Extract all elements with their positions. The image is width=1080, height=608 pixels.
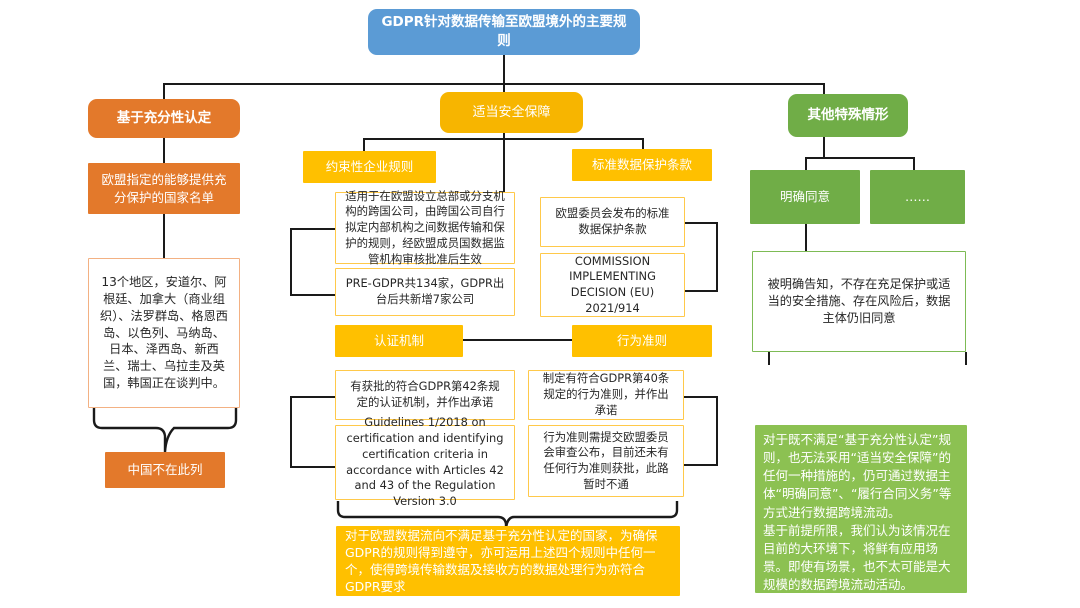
- safeguards-group-certification-title[interactable]: 认证机制: [335, 325, 463, 357]
- safeguards-certification-item-1[interactable]: 有获批的符合GDPR第42条规定的认证机制，并作出承诺: [335, 370, 515, 420]
- safeguards-certification-item-1-text: 有获批的符合GDPR第42条规定的认证机制，并作出承诺: [345, 379, 505, 410]
- safeguards-certification-item-2-text: Guidelines 1/2018 on certification and i…: [345, 415, 505, 509]
- adequacy-conclusion-label: 中国不在此列: [114, 461, 216, 478]
- safeguards-bcr-item-2-text: PRE-GDPR共134家，GDPR出台后共新增7家公司: [345, 276, 505, 307]
- other-detail[interactable]: 被明确告知，不存在充足保护或适当的安全措施、存在风险后，数据主体仍旧同意: [752, 251, 966, 352]
- connector-certification-rail: [290, 396, 292, 468]
- connector-certification-item2: [290, 466, 335, 468]
- branch-other-header-label: 其他特殊情形: [797, 106, 899, 125]
- safeguards-conduct-item-1[interactable]: 制定有符合GDPR第40条规定的行为准则，并作出承诺: [528, 370, 684, 420]
- other-note-text: 对于既不满足“基于充分性认定”规则，也无法采用“适当安全保障”的任何一种措施的，…: [763, 431, 959, 594]
- connector-root-to-adequacy: [163, 83, 165, 100]
- connector-safeguards-top-spine: [363, 138, 644, 140]
- diagram-canvas: GDPR针对数据传输至欧盟境外的主要规则 基于充分性认定 欧盟指定的能够提供充分…: [0, 0, 1080, 608]
- safeguards-bcr-item-1[interactable]: 适用于在欧盟设立总部或分支机构的跨国公司，由跨国公司自行拟定内部机构之间数据传输…: [335, 192, 515, 264]
- branch-adequacy-header-label: 基于充分性认定: [97, 109, 231, 128]
- safeguards-group-scc-title[interactable]: 标准数据保护条款: [572, 149, 712, 181]
- safeguards-scc-item-1-text: 欧盟委员会发布的标准数据保护条款: [550, 206, 675, 237]
- connector-adequacy-header-to-sub: [163, 137, 165, 164]
- other-child-ellipsis-label: ……: [879, 188, 956, 205]
- connector-scc-item2: [684, 290, 718, 292]
- safeguards-group-bcr-title[interactable]: 约束性企业规则: [303, 151, 436, 183]
- connector-other-spine: [805, 157, 915, 159]
- adequacy-subheader[interactable]: 欧盟指定的能够提供充分保护的国家名单: [88, 163, 240, 214]
- safeguards-conduct-item-2[interactable]: 行为准则需提交欧盟委员会审查公布，目前还未有任何行为准则获批，此路暂时不通: [528, 425, 684, 497]
- branch-safeguards-header[interactable]: 适当安全保障: [440, 92, 583, 133]
- connector-certification-item1: [290, 396, 335, 398]
- root-node[interactable]: GDPR针对数据传输至欧盟境外的主要规则: [368, 9, 640, 55]
- connector-scc-item1: [684, 222, 718, 224]
- other-note[interactable]: 对于既不满足“基于充分性认定”规则，也无法采用“适当安全保障”的任何一种措施的，…: [755, 425, 967, 593]
- connector-other-detail-left-leg: [768, 352, 770, 365]
- safeguards-group-conduct-title-label: 行为准则: [581, 332, 703, 349]
- connector-bcr-rail: [290, 228, 292, 296]
- adequacy-subheader-label: 欧盟指定的能够提供充分保护的国家名单: [97, 171, 231, 206]
- safeguards-conclusion-text: 对于欧盟数据流向不满足基于充分性认定的国家，为确保GDPR的规则得到遵守，亦可运…: [345, 527, 671, 596]
- connector-conduct-rail: [716, 396, 718, 466]
- safeguards-group-bcr-title-label: 约束性企业规则: [312, 158, 427, 175]
- safeguards-scc-item-2-text: COMMISSION IMPLEMENTING DECISION (EU) 20…: [550, 254, 675, 317]
- safeguards-conduct-item-2-text: 行为准则需提交欧盟委员会审查公布，目前还未有任何行为准则获批，此路暂时不通: [538, 430, 674, 493]
- connector-other-to-consent: [805, 157, 807, 170]
- other-child-consent-label: 明确同意: [759, 188, 851, 205]
- adequacy-conclusion[interactable]: 中国不在此列: [105, 452, 225, 488]
- root-node-label: GDPR针对数据传输至欧盟境外的主要规则: [377, 13, 631, 50]
- connector-other-stem: [823, 137, 825, 159]
- connector-adequacy-sub-to-detail: [163, 213, 165, 258]
- other-child-ellipsis[interactable]: ……: [870, 170, 965, 224]
- connector-safeguards-to-bcr: [363, 138, 365, 151]
- connector-consent-to-detail: [805, 224, 807, 251]
- adequacy-detail-text: 13个地区，安道尔、阿根廷、加拿大（商业组织）、法罗群岛、格恩西岛、以色列、马纳…: [98, 274, 230, 392]
- other-child-consent[interactable]: 明确同意: [750, 170, 860, 224]
- connector-root-spine: [163, 83, 825, 85]
- connector-root-stem: [503, 55, 505, 85]
- other-detail-text: 被明确告知，不存在充足保护或适当的安全措施、存在风险后，数据主体仍旧同意: [762, 276, 956, 326]
- branch-safeguards-header-label: 适当安全保障: [449, 104, 574, 122]
- connector-other-detail-right-leg: [965, 352, 967, 365]
- safeguards-conclusion[interactable]: 对于欧盟数据流向不满足基于充分性认定的国家，为确保GDPR的规则得到遵守，亦可运…: [336, 526, 680, 596]
- connector-scc-rail: [716, 222, 718, 292]
- safeguards-bcr-item-1-text: 适用于在欧盟设立总部或分支机构的跨国公司，由跨国公司自行拟定内部机构之间数据传输…: [345, 189, 505, 268]
- safeguards-conduct-item-1-text: 制定有符合GDPR第40条规定的行为准则，并作出承诺: [538, 371, 674, 418]
- safeguards-group-scc-title-label: 标准数据保护条款: [581, 156, 703, 173]
- connector-bcr-item1: [290, 228, 335, 230]
- connector-conduct-item2: [684, 464, 718, 466]
- safeguards-group-conduct-title[interactable]: 行为准则: [572, 325, 712, 357]
- safeguards-group-certification-title-label: 认证机制: [344, 332, 454, 349]
- connector-adequacy-merge-bracket: [90, 406, 240, 454]
- connector-bcr-item2: [290, 294, 335, 296]
- safeguards-scc-item-1[interactable]: 欧盟委员会发布的标准数据保护条款: [540, 197, 685, 247]
- adequacy-detail[interactable]: 13个地区，安道尔、阿根廷、加拿大（商业组织）、法罗群岛、格恩西岛、以色列、马纳…: [88, 258, 240, 408]
- safeguards-certification-item-2[interactable]: Guidelines 1/2018 on certification and i…: [335, 425, 515, 500]
- safeguards-bcr-item-2[interactable]: PRE-GDPR共134家，GDPR出台后共新增7家公司: [335, 268, 515, 316]
- branch-other-header[interactable]: 其他特殊情形: [788, 94, 908, 137]
- branch-adequacy-header[interactable]: 基于充分性认定: [88, 99, 240, 138]
- connector-conduct-item1: [684, 396, 718, 398]
- safeguards-scc-item-2[interactable]: COMMISSION IMPLEMENTING DECISION (EU) 20…: [540, 253, 685, 317]
- connector-other-to-ellipsis: [913, 157, 915, 170]
